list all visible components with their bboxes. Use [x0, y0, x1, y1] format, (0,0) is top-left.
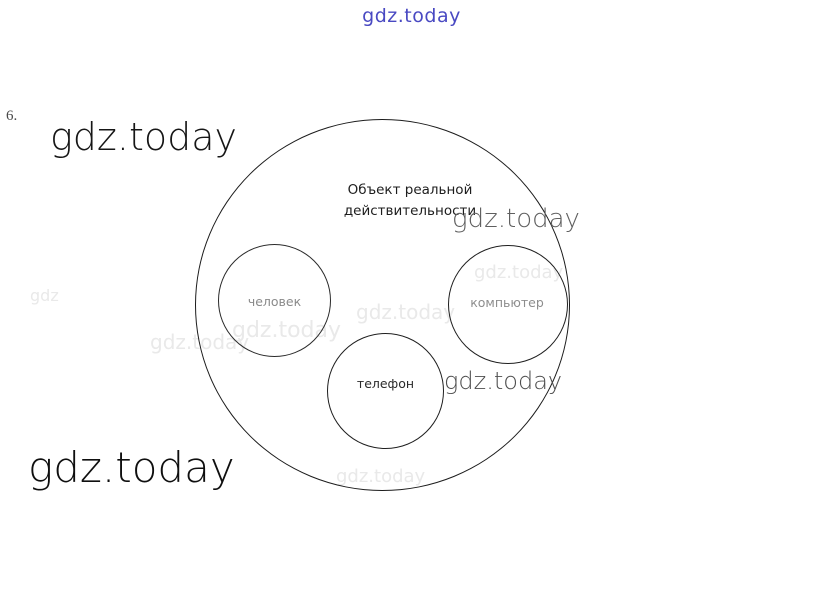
watermark-lower-right: gdz.today: [444, 367, 562, 395]
outer-set-label-line-1: Объект реальной: [300, 180, 520, 201]
set-diagram: Объект реальной действительности человек…: [0, 0, 823, 603]
inner-set-label-telephone: телефон: [327, 376, 444, 391]
inner-set-label-computer: компьютер: [444, 295, 570, 310]
inner-set-circle-telephone: [327, 333, 444, 449]
watermark-top-left: gdz.today: [50, 115, 237, 159]
watermark-bottom-left: gdz.today: [28, 443, 235, 492]
watermark-middle-right: gdz.today: [452, 204, 580, 234]
inner-set-label-human: человек: [218, 294, 331, 309]
scanned-page: gdz.today 6. gdz.today gdz.today gdz.tod…: [0, 0, 823, 603]
